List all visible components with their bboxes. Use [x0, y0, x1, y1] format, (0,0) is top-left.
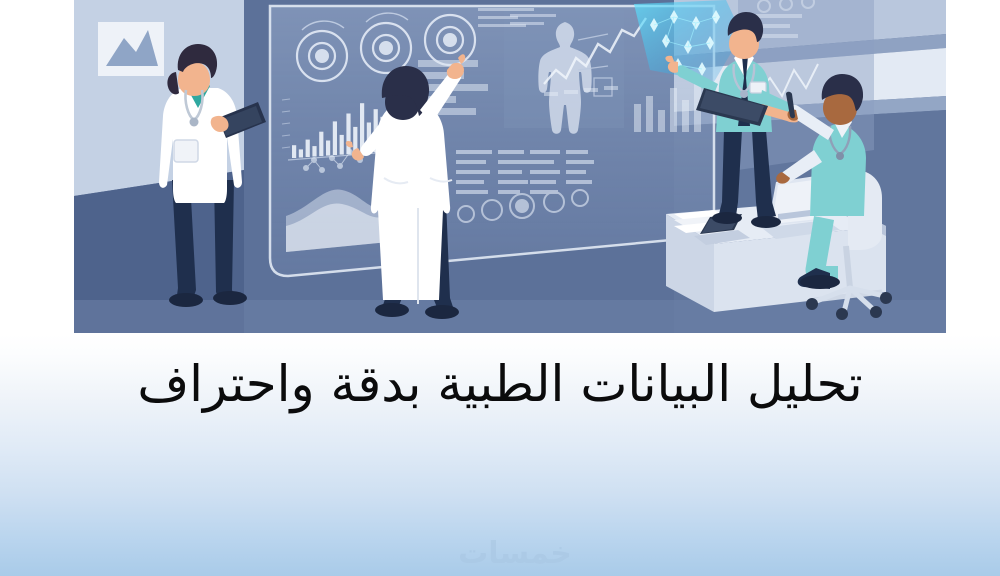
illustration-artwork	[74, 0, 946, 333]
human-body-scan	[504, 10, 624, 134]
medical-data-analysis-illustration	[74, 0, 946, 333]
bar	[292, 145, 296, 158]
bar	[312, 146, 316, 156]
bar	[333, 121, 337, 155]
page-title: تحليل البيانات الطبية بدقة واحتراف	[0, 352, 1000, 416]
bar	[340, 135, 344, 155]
bar	[299, 149, 303, 157]
poster-canvas: تحليل البيانات الطبية بدقة واحتراف X	[0, 0, 1000, 576]
bar	[346, 114, 350, 155]
bar	[319, 132, 323, 156]
logo-row: X	[0, 450, 1000, 576]
bar	[326, 141, 330, 156]
bar	[306, 140, 310, 157]
